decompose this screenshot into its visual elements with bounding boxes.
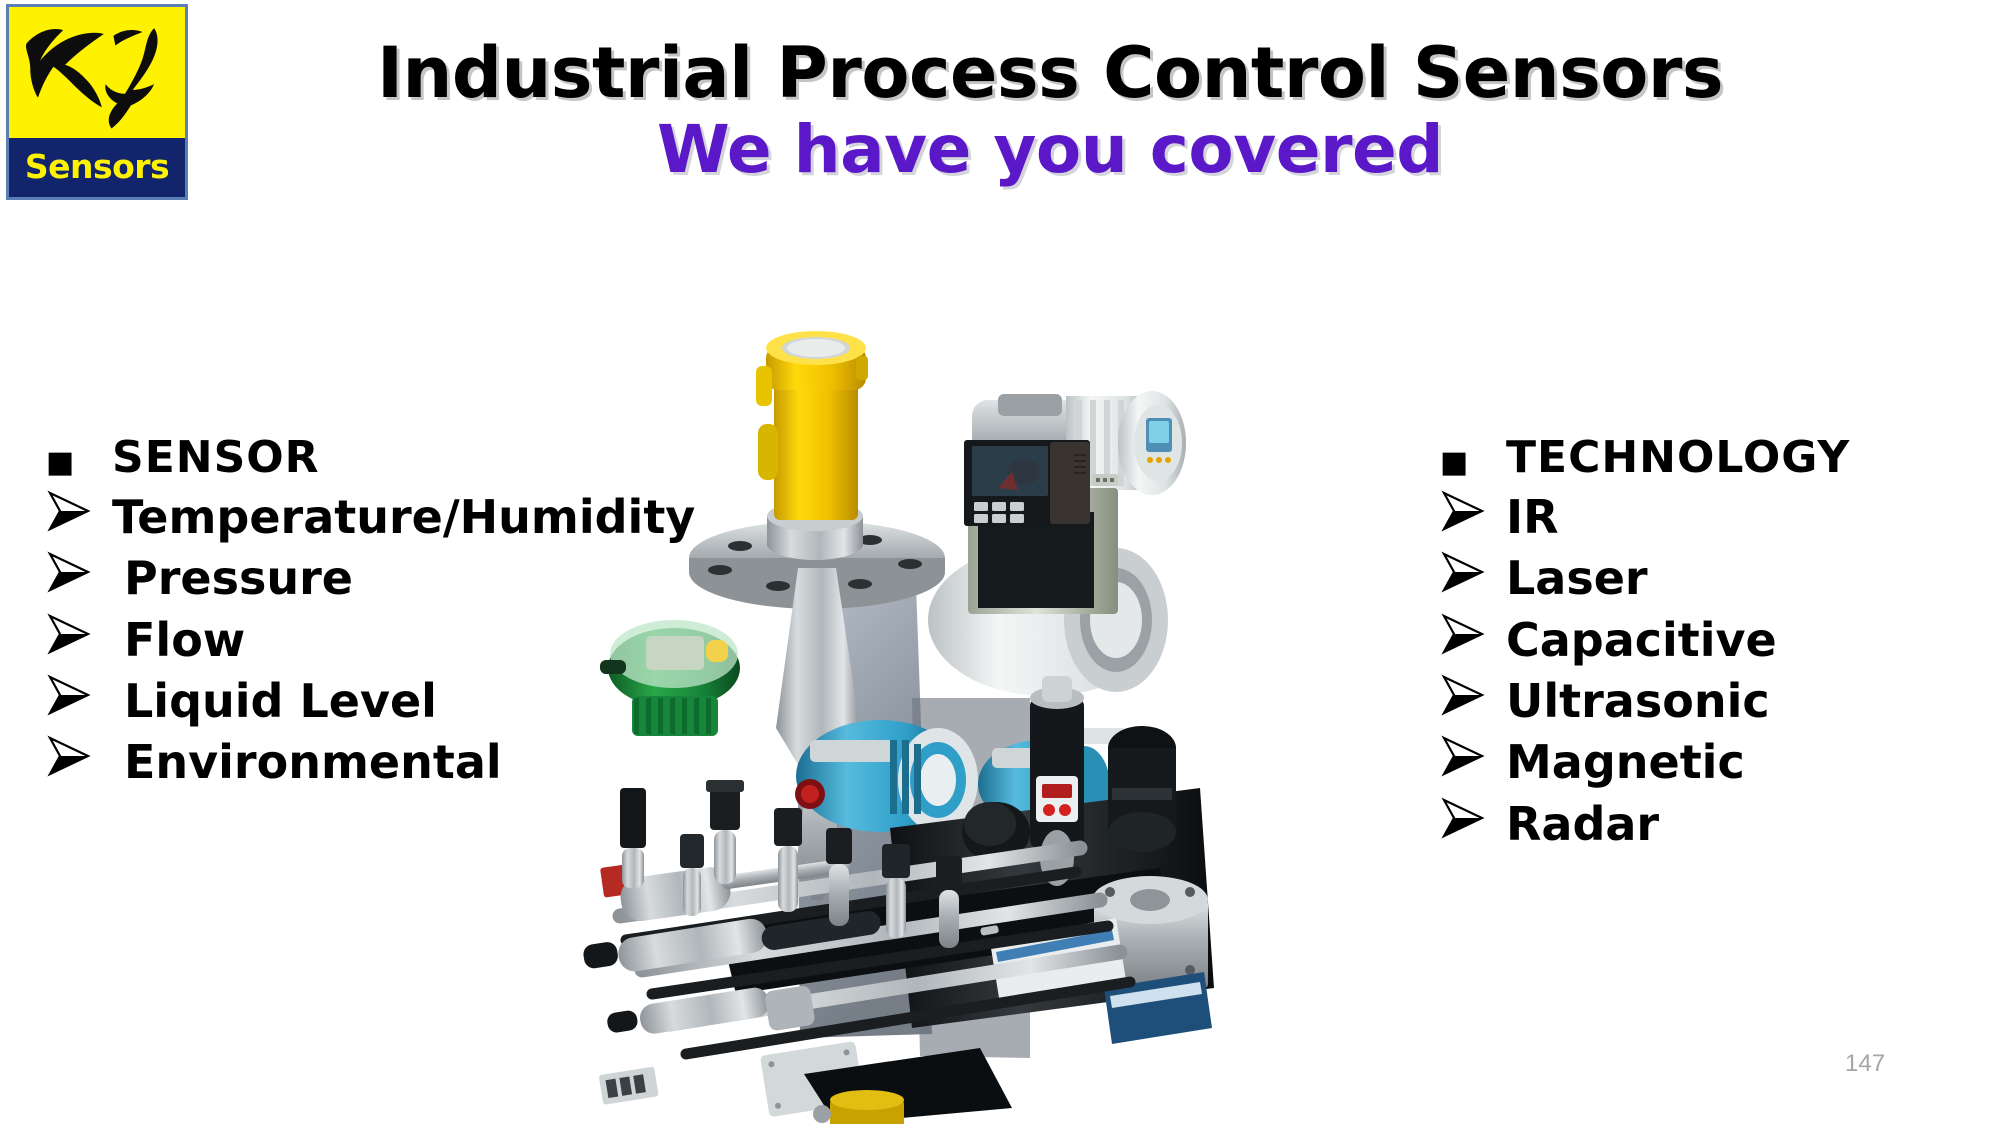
list-item[interactable]: Laser: [1440, 552, 2000, 605]
list-item[interactable]: Ultrasonic: [1440, 675, 2000, 728]
list-item[interactable]: Radar: [1440, 798, 2000, 851]
list-item[interactable]: Magnetic: [1440, 736, 2000, 789]
kj-sensors-logo: Sensors: [6, 4, 188, 200]
slide-number: 147: [1845, 1050, 1885, 1078]
list-item-label: Flow: [102, 614, 245, 667]
arrow-bullet-icon: [1440, 642, 1496, 656]
arrow-bullet-icon: [46, 580, 102, 594]
filled-square-bullet-icon: ■: [46, 448, 102, 478]
arrow-bullet-icon: [1440, 826, 1496, 840]
page-title: Industrial Process Control Sensors: [200, 38, 1900, 109]
arrow-bullet-icon: [1440, 580, 1496, 594]
list-item[interactable]: IR: [1440, 491, 2000, 544]
arrow-bullet-icon: [46, 764, 102, 778]
list-item-label: Capacitive: [1496, 614, 1777, 667]
list-heading-technology: ■ TECHNOLOGY: [1440, 432, 2000, 483]
industrial-sensor-array-photo: [560, 228, 1220, 1124]
arrow-bullet-icon: [1440, 764, 1496, 778]
kj-logo-mark: [9, 7, 185, 138]
list-item-label: Laser: [1496, 552, 1648, 605]
page-subtitle: We have you covered: [200, 115, 1900, 184]
list-item-label: Radar: [1496, 798, 1659, 851]
arrow-bullet-icon: [1440, 519, 1496, 533]
list-heading-label: SENSOR: [102, 432, 320, 483]
list-item-label: Magnetic: [1496, 736, 1745, 789]
logo-band-label: Sensors: [25, 150, 169, 185]
arrow-bullet-icon: [46, 642, 102, 656]
list-item-label: Pressure: [102, 552, 353, 605]
list-item-label: Liquid Level: [102, 675, 437, 728]
arrow-bullet-icon: [46, 519, 102, 533]
arrow-bullet-icon: [46, 703, 102, 717]
list-item-label: Ultrasonic: [1496, 675, 1770, 728]
filled-square-bullet-icon: ■: [1440, 448, 1496, 478]
technology-list: ■ TECHNOLOGY IR Laser Capacitive: [1440, 432, 2000, 859]
arrow-bullet-icon: [1440, 703, 1496, 717]
title-block: Industrial Process Control Sensors We ha…: [200, 38, 1900, 185]
list-item-label: Environmental: [102, 736, 502, 789]
list-item-label: IR: [1496, 491, 1559, 544]
list-heading-label: TECHNOLOGY: [1496, 432, 1850, 483]
list-item[interactable]: Capacitive: [1440, 614, 2000, 667]
logo-name-band: Sensors: [9, 138, 185, 197]
